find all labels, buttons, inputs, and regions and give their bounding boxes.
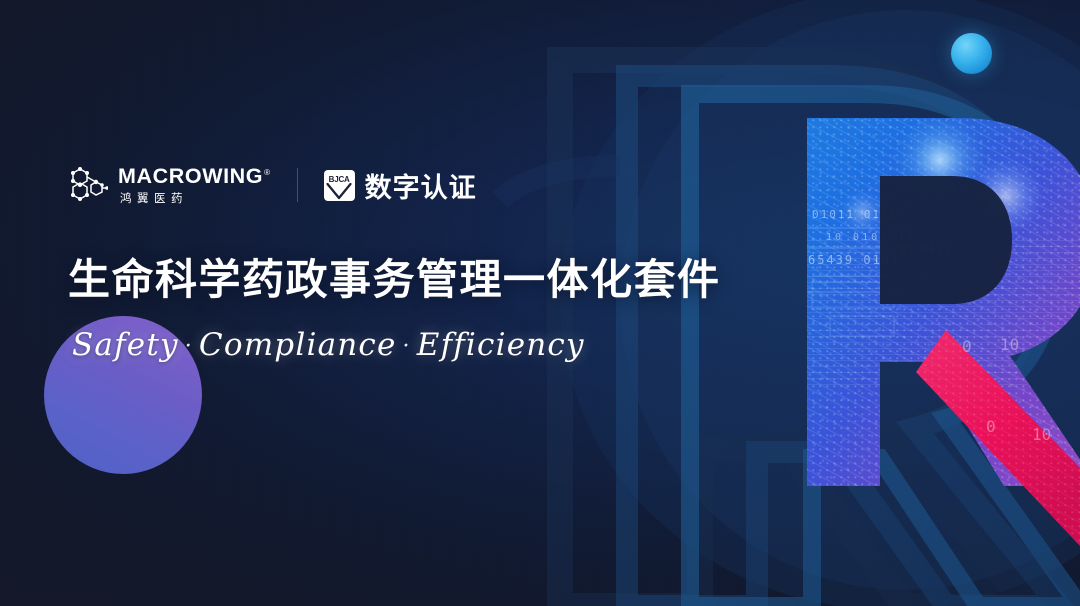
logo-bjca: BJCA 数字认证 <box>324 166 477 205</box>
macrowing-wordmark: MACROWING® 鸿翼医药 <box>118 166 271 204</box>
page-title: 生命科学药政事务管理一体化套件 <box>68 246 721 307</box>
logo-divider <box>297 168 298 202</box>
tagline-item-compliance: Compliance <box>199 327 397 363</box>
logo-row: MACROWING® 鸿翼医药 BJCA 数字认证 <box>66 163 477 207</box>
bjca-name-cn: 数字认证 <box>365 166 477 205</box>
molecule-icon <box>66 163 108 207</box>
tagline-separator: · <box>397 334 417 359</box>
tagline-item-safety: Safety <box>72 327 179 363</box>
bjca-shield-icon: BJCA <box>324 170 355 201</box>
title-slide: 01011 0110 10 0101 11 65439 0101 S1 0011 <box>0 0 1080 606</box>
macrowing-name-cn: 鸿翼医药 <box>118 193 271 205</box>
tagline-separator: · <box>179 334 199 359</box>
tagline: Safety·Compliance·Efficiency <box>72 327 585 363</box>
logo-macrowing: MACROWING® 鸿翼医药 <box>66 163 271 207</box>
macrowing-name-en: MACROWING® <box>118 166 271 188</box>
slide-content: MACROWING® 鸿翼医药 BJCA 数字认证 生命科学药政事务管理一体化套… <box>0 0 1080 606</box>
tagline-item-efficiency: Efficiency <box>417 327 585 363</box>
chevron-down-icon <box>327 183 352 200</box>
trademark-symbol: ® <box>264 168 271 177</box>
